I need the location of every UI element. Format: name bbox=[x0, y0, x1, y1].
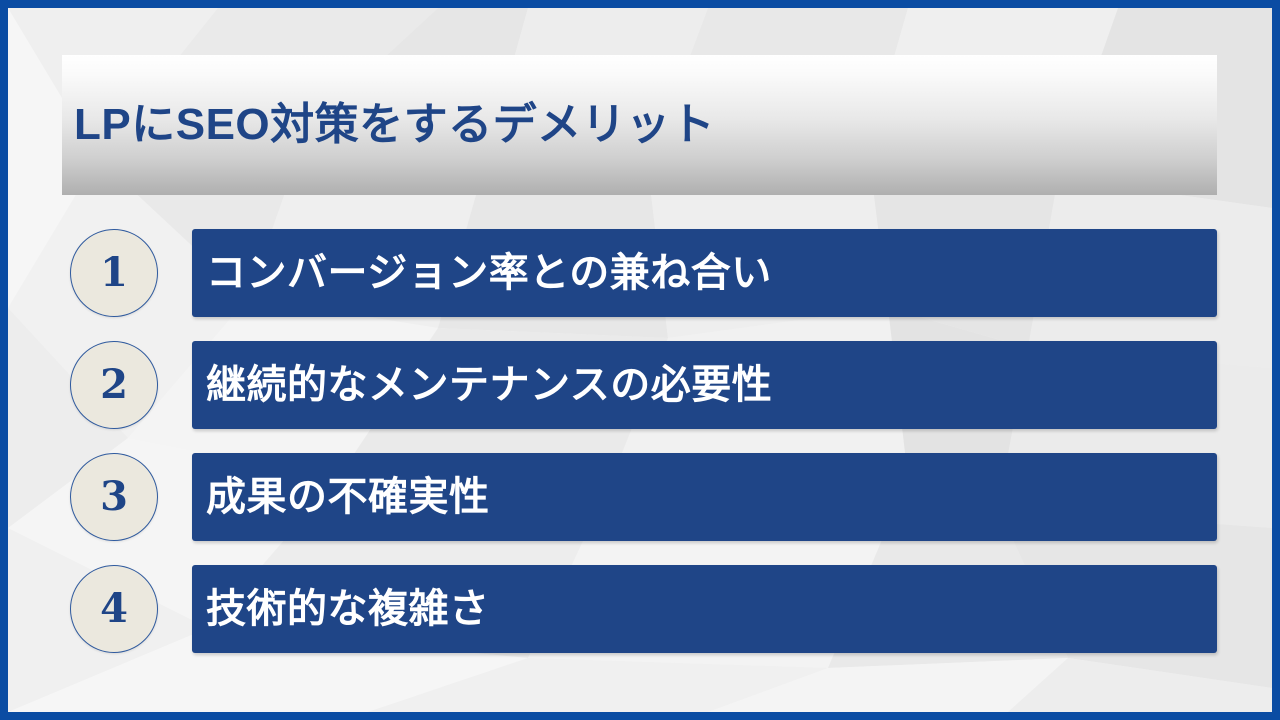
step-number-badge: 3 bbox=[70, 453, 158, 541]
item-bar[interactable]: 技術的な複雑さ bbox=[192, 565, 1217, 653]
step-number: 4 bbox=[100, 589, 128, 629]
step-number-badge: 1 bbox=[70, 229, 158, 317]
list-item[interactable]: 4 技術的な複雑さ bbox=[62, 561, 1217, 657]
list-item[interactable]: 3 成果の不確実性 bbox=[62, 449, 1217, 545]
item-label: コンバージョン率との兼ね合い bbox=[192, 253, 772, 293]
item-label: 技術的な複雑さ bbox=[192, 589, 490, 629]
step-number: 1 bbox=[100, 253, 128, 293]
page-title: LPにSEO対策をするデメリット bbox=[62, 103, 715, 147]
step-number-badge: 4 bbox=[70, 565, 158, 653]
item-bar[interactable]: コンバージョン率との兼ね合い bbox=[192, 229, 1217, 317]
item-bar[interactable]: 成果の不確実性 bbox=[192, 453, 1217, 541]
step-number-badge: 2 bbox=[70, 341, 158, 429]
item-label: 成果の不確実性 bbox=[192, 477, 490, 517]
step-number: 2 bbox=[100, 365, 128, 405]
step-number: 3 bbox=[100, 477, 128, 517]
list-item[interactable]: 1 コンバージョン率との兼ね合い bbox=[62, 225, 1217, 321]
item-bar[interactable]: 継続的なメンテナンスの必要性 bbox=[192, 341, 1217, 429]
item-label: 継続的なメンテナンスの必要性 bbox=[192, 365, 772, 405]
title-plate: LPにSEO対策をするデメリット bbox=[62, 55, 1217, 195]
slide-canvas: LPにSEO対策をするデメリット 1 コンバージョン率との兼ね合い 2 継続的な… bbox=[0, 0, 1280, 720]
list-item[interactable]: 2 継続的なメンテナンスの必要性 bbox=[62, 337, 1217, 433]
